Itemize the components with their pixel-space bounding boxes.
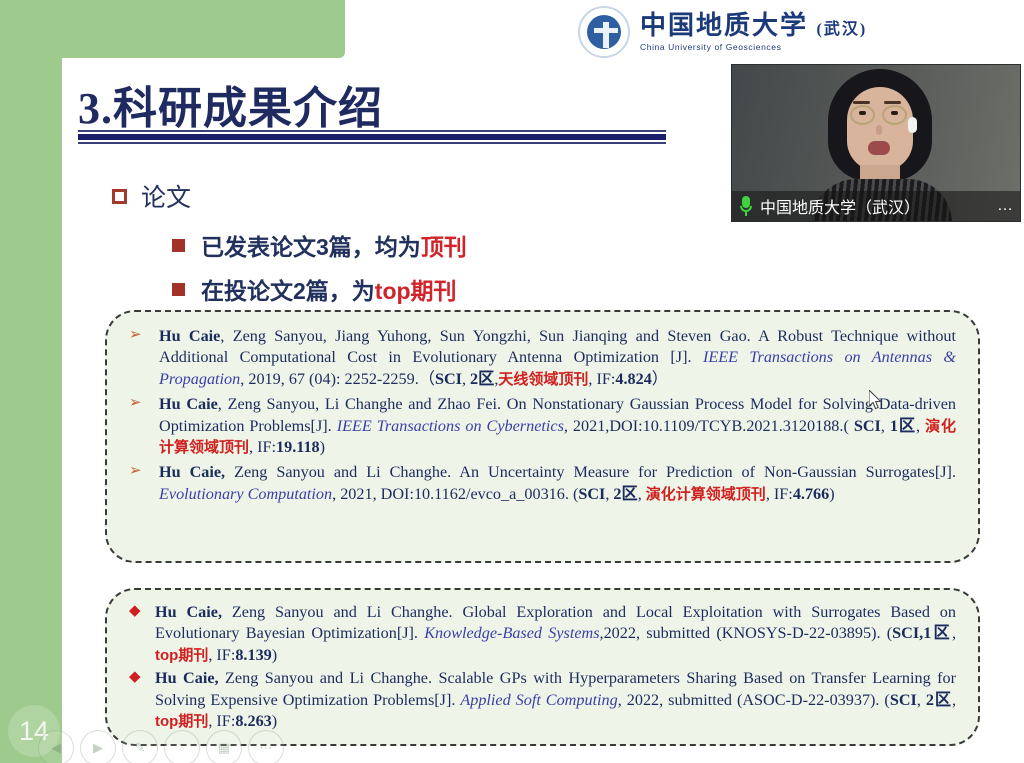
diamond-bullet-icon: ◆	[129, 602, 141, 622]
university-logo: 中国地质大学 (武汉) China University of Geoscien…	[578, 6, 867, 58]
video-person-mouth	[868, 141, 890, 155]
video-person-eye-left	[859, 111, 866, 115]
participant-name: 中国地质大学（武汉）	[760, 194, 920, 218]
video-person-brow-right	[884, 101, 901, 104]
university-name-en: China University of Geosciences	[640, 43, 867, 52]
prev-slide-button[interactable]: ◀	[38, 730, 74, 763]
citation-text: Hu Caie, Zeng Sanyou and Li Changhe. An …	[159, 462, 956, 505]
university-name-cn: 中国地质大学 (武汉)	[640, 13, 867, 39]
video-person-eye-right	[891, 111, 898, 115]
outline-level2-item-2: 在投论文2篇，为top期刊	[172, 272, 457, 306]
citation-text: Hu Caie, Zeng Sanyou, Li Changhe and Zha…	[159, 394, 956, 458]
video-person-nose	[876, 125, 882, 135]
microphone-icon[interactable]	[740, 196, 752, 216]
participant-video-tile[interactable]: 中国地质大学（武汉） …	[731, 64, 1021, 222]
slideshow-toolbar: ◀ ▶ ✎ ◦ ▦ ⋯	[38, 730, 284, 763]
pen-annotate-button[interactable]: ✎	[122, 730, 158, 763]
more-options-button[interactable]: ⋯	[248, 730, 284, 763]
citation-text: Hu Caie, Zeng Sanyou, Jiang Yuhong, Sun …	[159, 326, 956, 390]
rule-thick	[78, 134, 666, 140]
citation-text: Hu Caie, Zeng Sanyou and Li Changhe. Sca…	[155, 668, 956, 732]
citation-item: ◆ Hu Caie, Zeng Sanyou and Li Changhe. S…	[129, 668, 956, 732]
submitted-papers-box: ◆ Hu Caie, Zeng Sanyou and Li Changhe. G…	[105, 588, 980, 746]
solid-square-bullet-icon	[172, 283, 185, 296]
green-left-band	[0, 0, 62, 763]
arrow-bullet-icon: ➢	[129, 326, 142, 346]
video-person-glasses-left	[850, 105, 875, 125]
emblem-bar	[594, 28, 618, 33]
citation-item: ◆ Hu Caie, Zeng Sanyou and Li Changhe. G…	[129, 602, 956, 666]
arrow-bullet-icon: ➢	[129, 462, 142, 482]
participant-more-button[interactable]: …	[997, 197, 1014, 215]
rule-thin-top	[78, 130, 666, 132]
mouse-cursor-icon	[869, 390, 885, 412]
outline-level2-label-2: 在投论文2篇，为top期刊	[201, 272, 457, 306]
video-person-earbud	[908, 117, 917, 133]
video-person-glasses-right	[882, 105, 907, 125]
video-person-brow-left	[853, 101, 870, 104]
university-emblem-icon	[578, 6, 630, 58]
citation-item: ➢ Hu Caie, Zeng Sanyou, Li Changhe and Z…	[129, 394, 956, 458]
outline-level2-label-1: 已发表论文3篇，均为顶刊	[201, 228, 467, 262]
participant-name-bar: 中国地质大学（武汉） …	[732, 191, 1021, 221]
citation-item: ➢ Hu Caie, Zeng Sanyou and Li Changhe. A…	[129, 462, 956, 505]
citation-item: ➢ Hu Caie, Zeng Sanyou, Jiang Yuhong, Su…	[129, 326, 956, 390]
hollow-square-bullet-icon	[112, 189, 127, 204]
next-slide-button[interactable]: ▶	[80, 730, 116, 763]
presentation-slide: 3.科研成果介绍 论文 已发表论文3篇，均为顶刊 在投论文2篇，为top期刊 ➢…	[0, 0, 1024, 763]
arrow-bullet-icon: ➢	[129, 394, 142, 414]
university-logo-text: 中国地质大学 (武汉) China University of Geoscien…	[640, 13, 867, 52]
published-papers-box: ➢ Hu Caie, Zeng Sanyou, Jiang Yuhong, Su…	[105, 310, 980, 563]
outline-level2-item-1: 已发表论文3篇，均为顶刊	[172, 228, 467, 262]
diamond-bullet-icon: ◆	[129, 668, 141, 688]
rule-thin-bottom	[78, 142, 666, 144]
outline-level1-label: 论文	[141, 178, 191, 214]
green-top-band	[0, 0, 345, 58]
page-title: 3.科研成果介绍	[78, 72, 383, 136]
solid-square-bullet-icon	[172, 239, 185, 252]
laser-pointer-button[interactable]: ◦	[164, 730, 200, 763]
outline-level1-item: 论文	[112, 178, 191, 214]
grid-view-button[interactable]: ▦	[206, 730, 242, 763]
title-underline	[78, 130, 666, 144]
citation-text: Hu Caie, Zeng Sanyou and Li Changhe. Glo…	[155, 602, 956, 666]
